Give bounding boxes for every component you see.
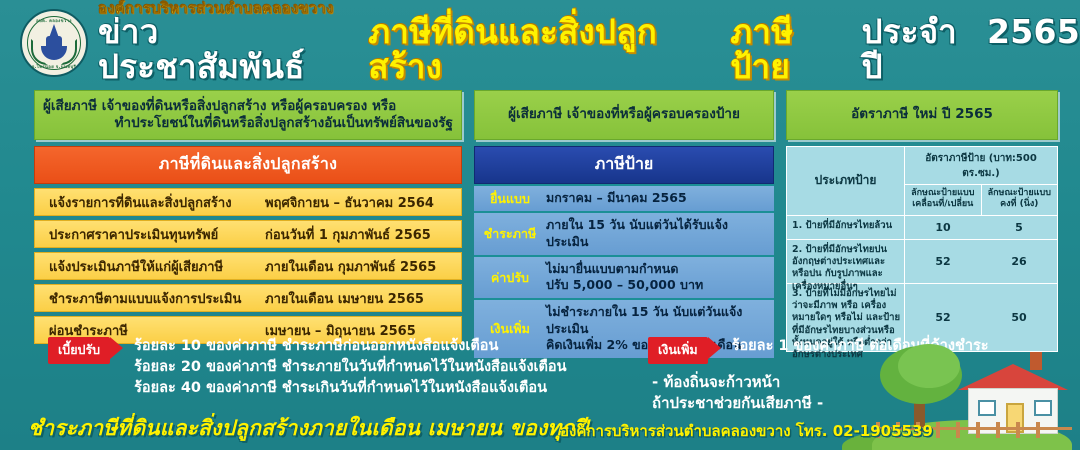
task-label: ชำระภาษีตามแบบแจ้งการประเมิน bbox=[35, 288, 265, 309]
house-window-left-icon bbox=[978, 400, 996, 416]
row-key: ค่าปรับ bbox=[474, 268, 546, 288]
row-value-line: มกราคม – มีนาคม 2565 bbox=[546, 190, 768, 206]
penalty-fine-tag: เบี้ยปรับ bbox=[48, 337, 110, 364]
tree-crown-highlight-icon bbox=[898, 344, 960, 388]
table-row: ค่าปรับ ไม่มายื่นแบบตามกำหนด ปรับ 5,000 … bbox=[474, 255, 774, 299]
rate-moving-value: 52 bbox=[905, 240, 981, 283]
period-value: ภายในเดือน เมษายน 2565 bbox=[265, 288, 461, 309]
rate-fixed-value: 5 bbox=[981, 216, 1057, 239]
rate-table-header: ประเภทป้าย อัตราภาษีป้าย (บาท:500 ตร.ซม.… bbox=[787, 147, 1057, 215]
row-value: มกราคม – มีนาคม 2565 bbox=[546, 186, 774, 211]
row-value-line: ภายใน 15 วัน นับแต่วันได้รับแจ้งประเมิน bbox=[546, 217, 768, 250]
title-year-label: ประจำปี bbox=[862, 15, 974, 84]
header: อบต. คลองขวาง อ.ไทรน้อย จ.นนทบุรี องค์กา… bbox=[0, 0, 1080, 84]
row-value: ไม่มายื่นแบบตามกำหนด ปรับ 5,000 – 50,000… bbox=[546, 257, 774, 299]
column-header-type: ประเภทป้าย bbox=[787, 147, 905, 215]
footer-payment-reminder: ชำระภาษีที่ดินและสิ่งปลูกสร้างภายในเดือน… bbox=[28, 412, 588, 445]
rate-header-group: อัตราภาษีป้าย (บาท:500 ตร.ซม.) ลักษณะป้า… bbox=[905, 147, 1057, 215]
penalty-line: ร้อยละ 40 ของค่าภาษี ชำระเกินวันที่กำหนด… bbox=[134, 378, 566, 399]
table-row: แจ้งรายการที่ดินและสิ่งปลูกสร้าง พฤศจิกา… bbox=[34, 188, 462, 216]
task-label: แจ้งรายการที่ดินและสิ่งปลูกสร้าง bbox=[35, 192, 265, 213]
signboard-type: 2. ป้ายที่มีอักษรไทยปน อังกฤษต่างประเทศแ… bbox=[787, 240, 905, 283]
signboard-tax-table: ภาษีป้าย ยื่นแบบ มกราคม – มีนาคม 2565 ชำ… bbox=[474, 146, 774, 358]
column-header-rate: อัตราภาษีป้าย (บาท:500 ตร.ซม.) bbox=[905, 147, 1057, 185]
table-row: ประกาศราคาประเมินทุนทรัพย์ ก่อนวันที่ 1 … bbox=[34, 220, 462, 248]
table-row: ยื่นแบบ มกราคม – มีนาคม 2565 bbox=[474, 184, 774, 211]
subhead-left-line1: ผู้เสียภาษี เจ้าของที่ดินหรือสิ่งปลูกสร้… bbox=[43, 98, 453, 115]
penalty-surcharge-tag: เงินเพิ่ม bbox=[648, 337, 708, 364]
poster-root: อบต. คลองขวาง อ.ไทรน้อย จ.นนทบุรี องค์กา… bbox=[0, 0, 1080, 450]
row-value-line: ไม่ชำระภายใน 15 วัน นับแต่วันแจ้งประเมิน bbox=[546, 304, 768, 337]
table-row: ชำระภาษี ภายใน 15 วัน นับแต่วันได้รับแจ้… bbox=[474, 211, 774, 255]
period-value: ก่อนวันที่ 1 กุมภาพันธ์ 2565 bbox=[265, 224, 461, 245]
subhead-middle: ผู้เสียภาษี เจ้าของที่หรือผู้ครอบครองป้า… bbox=[474, 90, 774, 140]
seal-crest-icon bbox=[39, 24, 69, 62]
period-value: ภายในเดือน กุมภาพันธ์ 2565 bbox=[265, 256, 461, 277]
rate-fixed-value: 26 bbox=[981, 240, 1057, 283]
rate-moving-value: 10 bbox=[905, 216, 981, 239]
rate-subheaders: ลักษณะป้ายแบบเคลื่อนที่/เปลี่ยน ลักษณะป้… bbox=[905, 185, 1057, 215]
column-header-moving: ลักษณะป้ายแบบเคลื่อนที่/เปลี่ยน bbox=[905, 185, 982, 215]
title-land-building-tax: ภาษีที่ดินและสิ่งปลูกสร้าง bbox=[368, 15, 717, 84]
column-header-fixed: ลักษณะป้ายแบบคงที่ (นิ่ง) bbox=[982, 185, 1058, 215]
row-key: ยื่นแบบ bbox=[474, 189, 546, 209]
house-window-right-icon bbox=[1034, 400, 1052, 416]
table-row: 1. ป้ายที่มีอักษรไทยล้วน 10 5 bbox=[787, 215, 1057, 239]
task-label: แจ้งประเมินภาษีให้แก่ผู้เสียภาษี bbox=[35, 256, 265, 277]
penalty-fine-block: เบี้ยปรับ ร้อยละ 10 ของค่าภาษี ชำระภาษีก… bbox=[48, 336, 568, 399]
land-building-tax-header: ภาษีที่ดินและสิ่งปลูกสร้าง bbox=[34, 146, 462, 184]
header-text-block: องค์การบริหารส่วนตำบลคลองขวาง ข่าวประชาส… bbox=[98, 0, 1080, 84]
footer-organization-contact: องค์การบริหารส่วนตำบลคลองขวาง โทร. 02-19… bbox=[560, 419, 933, 443]
period-value: พฤศจิกายน – ธันวาคม 2564 bbox=[265, 192, 461, 213]
table-row: ชำระภาษีตามแบบแจ้งการประเมิน ภายในเดือน … bbox=[34, 284, 462, 312]
signboard-tax-header: ภาษีป้าย bbox=[474, 146, 774, 184]
title-news: ข่าวประชาสัมพันธ์ bbox=[98, 15, 355, 84]
table-row: แจ้งประเมินภาษีให้แก่ผู้เสียภาษี ภายในเด… bbox=[34, 252, 462, 280]
row-value: ภายใน 15 วัน นับแต่วันได้รับแจ้งประเมิน bbox=[546, 213, 774, 255]
title-signboard-tax: ภาษีป้าย bbox=[730, 15, 848, 84]
subhead-left: ผู้เสียภาษี เจ้าของที่ดินหรือสิ่งปลูกสร้… bbox=[34, 90, 462, 140]
subhead-right: อัตราภาษี ใหม่ ปี 2565 bbox=[786, 90, 1058, 140]
penalty-fine-lines: ร้อยละ 10 ของค่าภาษี ชำระภาษีก่อนออกหนัง… bbox=[134, 336, 566, 399]
subhead-left-line2: ทำประโยชน์ในที่ดินหรือสิ่งปลูกสร้างอันเป… bbox=[43, 115, 453, 132]
house-roof-icon bbox=[958, 364, 1068, 390]
task-label: ประกาศราคาประเมินทุนทรัพย์ bbox=[35, 224, 265, 245]
land-building-tax-table: ภาษีที่ดินและสิ่งปลูกสร้าง แจ้งรายการที่… bbox=[34, 146, 462, 344]
row-key: ชำระภาษี bbox=[474, 224, 546, 244]
row-value-line: ไม่มายื่นแบบตามกำหนด bbox=[546, 261, 768, 277]
subhead-right-text: อัตราภาษี ใหม่ ปี 2565 bbox=[795, 106, 1049, 123]
penalty-line: ร้อยละ 20 ของค่าภาษี ชำระภายในวันที่กำหน… bbox=[134, 357, 566, 378]
signboard-type: 1. ป้ายที่มีอักษรไทยล้วน bbox=[787, 216, 905, 239]
penalty-line: ร้อยละ 10 ของค่าภาษี ชำระภาษีก่อนออกหนัง… bbox=[134, 336, 566, 357]
title-year-value: 2565 bbox=[987, 15, 1080, 50]
seal-bottom-text: อ.ไทรน้อย จ.นนทบุรี bbox=[22, 63, 86, 70]
subhead-middle-text: ผู้เสียภาษี เจ้าของที่หรือผู้ครอบครองป้า… bbox=[483, 106, 765, 123]
title-row: ข่าวประชาสัมพันธ์ ภาษีที่ดินและสิ่งปลูกส… bbox=[98, 15, 1080, 84]
seal-top-text: อบต. คลองขวาง bbox=[22, 17, 86, 24]
table-row: 2. ป้ายที่มีอักษรไทยปน อังกฤษต่างประเทศแ… bbox=[787, 239, 1057, 283]
signboard-rate-table: ประเภทป้าย อัตราภาษีป้าย (บาท:500 ตร.ซม.… bbox=[786, 146, 1058, 352]
government-seal-icon: อบต. คลองขวาง อ.ไทรน้อย จ.นนทบุรี bbox=[20, 9, 88, 77]
penalty-fine-head: เบี้ยปรับ ร้อยละ 10 ของค่าภาษี ชำระภาษีก… bbox=[48, 336, 568, 399]
row-value-line: ปรับ 5,000 – 50,000 บาท bbox=[546, 277, 768, 293]
